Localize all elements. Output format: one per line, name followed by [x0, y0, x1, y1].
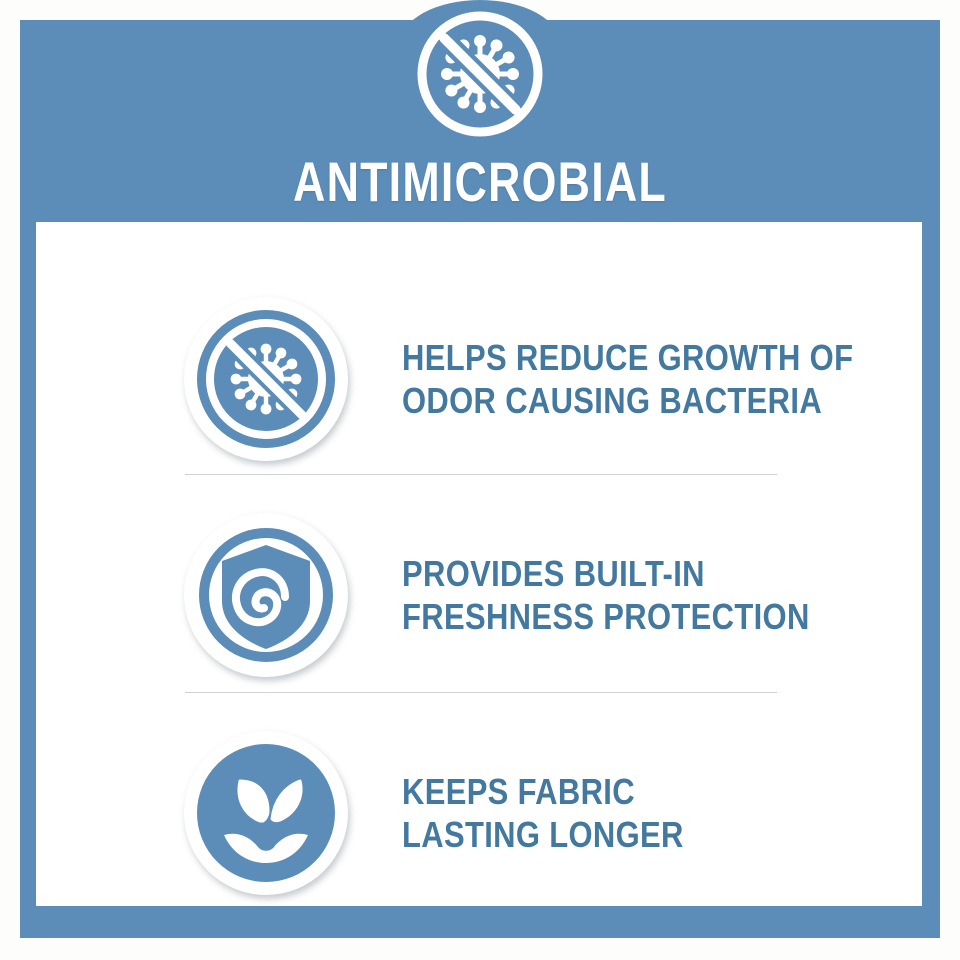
header: ANTIMICROBIAL [0, 0, 960, 240]
feature-list: HELPS REDUCE GROWTH OF ODOR CAUSING BACT… [36, 222, 922, 906]
feature-text: KEEPS FABRIC LASTING LONGER [402, 770, 684, 856]
row-divider [185, 474, 777, 475]
list-item: PROVIDES BUILT-IN FRESHNESS PROTECTION [36, 490, 922, 700]
list-item: KEEPS FABRIC LASTING LONGER [36, 708, 922, 918]
feature-text: HELPS REDUCE GROWTH OF ODOR CAUSING BACT… [402, 336, 853, 422]
leaf-fabric-icon [184, 731, 348, 895]
row-divider [185, 692, 777, 693]
germ-blocked-icon [184, 297, 348, 461]
feature-line-1: HELPS REDUCE GROWTH OF [402, 336, 853, 379]
shield-swirl-icon [184, 513, 348, 677]
feature-line-2: LASTING LONGER [402, 813, 684, 856]
feature-text: PROVIDES BUILT-IN FRESHNESS PROTECTION [402, 552, 810, 638]
germ-blocked-icon [412, 6, 548, 142]
antimicrobial-infographic: ANTIMICROBIAL [0, 0, 960, 960]
list-item: HELPS REDUCE GROWTH OF ODOR CAUSING BACT… [36, 274, 922, 484]
feature-line-2: FRESHNESS PROTECTION [402, 595, 810, 638]
page-title: ANTIMICROBIAL [96, 150, 864, 214]
feature-line-1: KEEPS FABRIC [402, 770, 684, 813]
feature-line-2: ODOR CAUSING BACTERIA [402, 379, 853, 422]
feature-line-1: PROVIDES BUILT-IN [402, 552, 810, 595]
